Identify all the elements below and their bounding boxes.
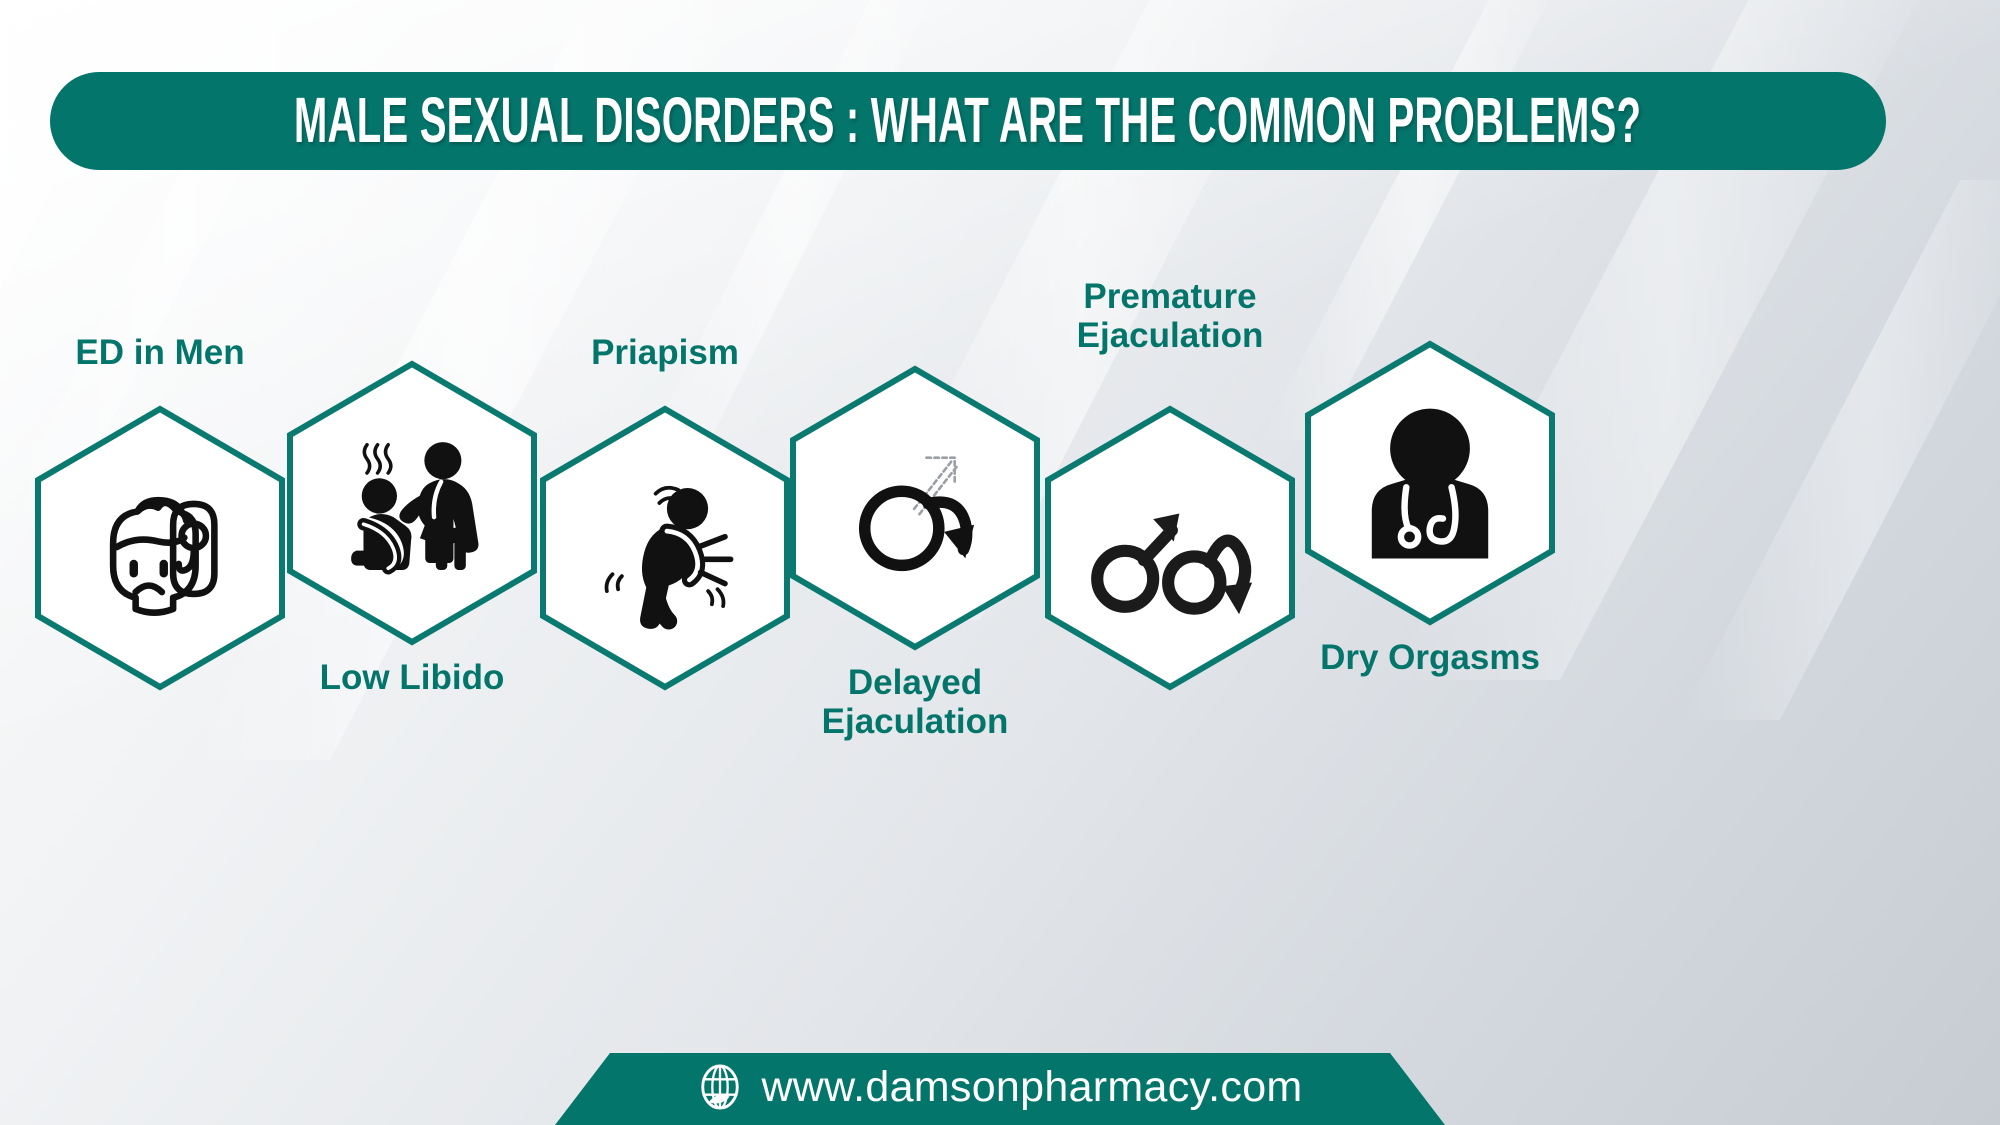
hexagon-frame bbox=[537, 405, 793, 691]
hexagon-frame bbox=[1302, 340, 1558, 626]
card-label-ed-in-men: ED in Men bbox=[10, 333, 310, 372]
hexagon-frame bbox=[787, 365, 1043, 651]
doctor-stethoscope-icon bbox=[1283, 319, 1577, 648]
two-male-symbols-arrows-icon bbox=[1027, 388, 1314, 708]
sad-man-face-icon bbox=[32, 405, 288, 691]
hexagon-frame bbox=[1042, 405, 1298, 691]
couple-rejection-icon bbox=[284, 360, 540, 646]
card-label-delayed-ejaculation: Delayed Ejaculation bbox=[765, 663, 1065, 741]
hexagon-frame bbox=[32, 405, 288, 691]
page-title: MALE SEXUAL DISORDERS : WHAT ARE THE COM… bbox=[294, 85, 1641, 158]
card-label-dry-orgasms: Dry Orgasms bbox=[1280, 638, 1580, 677]
title-banner: MALE SEXUAL DISORDERS : WHAT ARE THE COM… bbox=[50, 72, 1886, 170]
card-label-low-libido: Low Libido bbox=[262, 658, 562, 697]
man-in-pain-icon bbox=[537, 405, 793, 691]
card-label-priapism: Priapism bbox=[515, 333, 815, 372]
footer-band: www.damsonpharmacy.com bbox=[555, 1053, 1445, 1125]
footer-website-url[interactable]: www.damsonpharmacy.com bbox=[761, 1063, 1302, 1112]
disorders-hex-row: ED in Men bbox=[0, 355, 2000, 975]
hexagon-frame bbox=[284, 360, 540, 646]
globe-icon bbox=[697, 1064, 743, 1110]
male-symbol-down-arrow-icon bbox=[787, 365, 1043, 651]
card-label-premature-ejaculation: Premature Ejaculation bbox=[1020, 277, 1320, 355]
